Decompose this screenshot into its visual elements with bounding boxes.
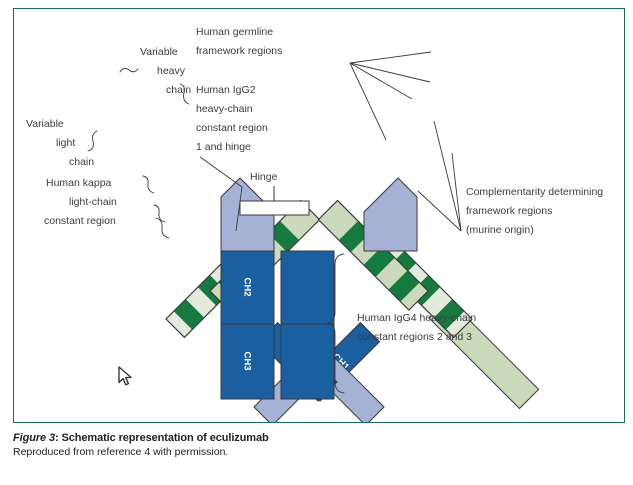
svg-text:constant regions 2 and 3: constant regions 2 and 3 [357,331,472,343]
label-variable-heavy-chain: Variable heavy chain [140,46,191,96]
svg-text:constant region: constant region [196,122,268,134]
label-human-germline: Human germline framework regions [196,26,282,57]
svg-text:constant region: constant region [44,215,116,227]
brace-variable-light-right [143,176,154,193]
figure-title: : Schematic representation of eculizumab [55,432,269,444]
brace-variable-heavy-top [120,68,138,72]
svg-text:(murine origin): (murine origin) [466,224,534,236]
svg-text:framework regions: framework regions [196,45,282,57]
svg-text:1 and hinge: 1 and hinge [196,141,251,153]
figure-caption: Figure 3: Schematic representation of ec… [13,432,625,458]
caption-source-line: Reproduced from reference 4 with permiss… [13,446,625,458]
right-ch3-domain [281,324,334,399]
hinge-connector [240,201,309,215]
label-cdr-murine: Complementarity determining framework re… [466,186,603,236]
svg-text:framework regions: framework regions [466,205,552,217]
right-hinge-arm [364,178,417,251]
svg-text:light: light [56,137,75,149]
svg-text:Human kappa: Human kappa [46,177,112,189]
svg-text:light-chain: light-chain [69,196,117,208]
antibody-schematic-diagram: CL CH1 [14,9,624,422]
ch2-label: CH2 [241,277,252,296]
svg-text:Human germline: Human germline [196,26,273,38]
svg-text:chain: chain [69,156,94,168]
svg-text:Variable: Variable [26,118,64,130]
figure-number: Figure 3 [13,432,55,444]
svg-text:Variable: Variable [140,46,178,58]
svg-text:Complementarity determining: Complementarity determining [466,186,603,198]
label-hinge: Hinge [250,171,278,183]
right-ch2-domain [281,251,334,324]
figure-page: CL CH1 [0,0,633,485]
label-variable-light-chain: Variable light chain [26,118,94,168]
caption-title-line: Figure 3: Schematic representation of ec… [13,432,625,444]
svg-text:Human IgG2: Human IgG2 [196,84,256,96]
svg-text:chain: chain [166,84,191,96]
brace-variable-light [88,131,97,151]
label-human-kappa: Human kappa light-chain constant region [44,177,117,227]
germline-leader-lines [350,52,431,140]
label-human-igg2: Human IgG2 heavy-chain constant region 1… [196,84,268,153]
svg-text:Human IgG4 heavy-chain: Human IgG4 heavy-chain [357,312,476,324]
svg-text:heavy-chain: heavy-chain [196,103,253,115]
cdr-leader-lines [418,121,461,231]
ch3-label: CH3 [241,351,252,370]
svg-text:heavy: heavy [157,65,186,77]
figure-border-box: CL CH1 [13,8,625,423]
